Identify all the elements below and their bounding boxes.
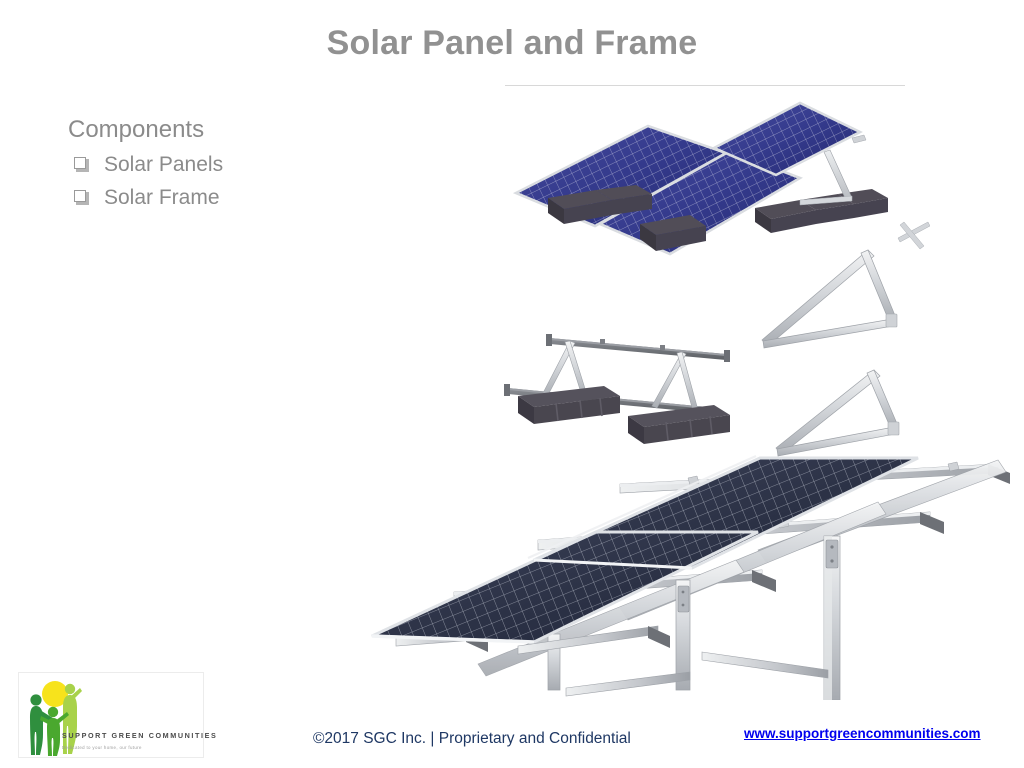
frame-components-image [500,240,930,470]
ballast-blocks-back [755,189,888,233]
tilt-bracket-triangle-upper [762,250,897,348]
figure-divider [505,85,905,86]
page-title: Solar Panel and Frame [0,24,1024,63]
logo-figures-icon [22,674,88,756]
figure-column [360,80,1024,700]
logo-tagline: Dedicated to your home, our future [62,745,142,750]
logo-wordmark: SUPPORT GREEN COMMUNITIES [62,731,217,740]
bullet-label: Solar Panels [104,151,223,178]
website-link[interactable]: www.supportgreencommunities.com [744,726,981,741]
racking-diagonal-brace [566,652,828,696]
ground-mount-array-image [358,440,1018,700]
hollow-square-bullet-icon [74,157,90,172]
components-bullet-list: Solar Panels Solar Frame [68,151,398,212]
list-item: Solar Panels [68,151,398,178]
hollow-square-bullet-icon [74,190,90,205]
components-heading: Components [68,115,398,145]
slide-canvas: Solar Panel and Frame Components Solar P… [0,0,1024,768]
footer-copyright: ©2017 SGC Inc. | Proprietary and Confide… [313,730,631,748]
components-content-block: Components Solar Panels Solar Frame [68,115,398,218]
bullet-label: Solar Frame [104,184,220,211]
list-item: Solar Frame [68,184,398,211]
mounting-rail-assembly [504,334,730,444]
ballast-tray-right [628,405,730,444]
